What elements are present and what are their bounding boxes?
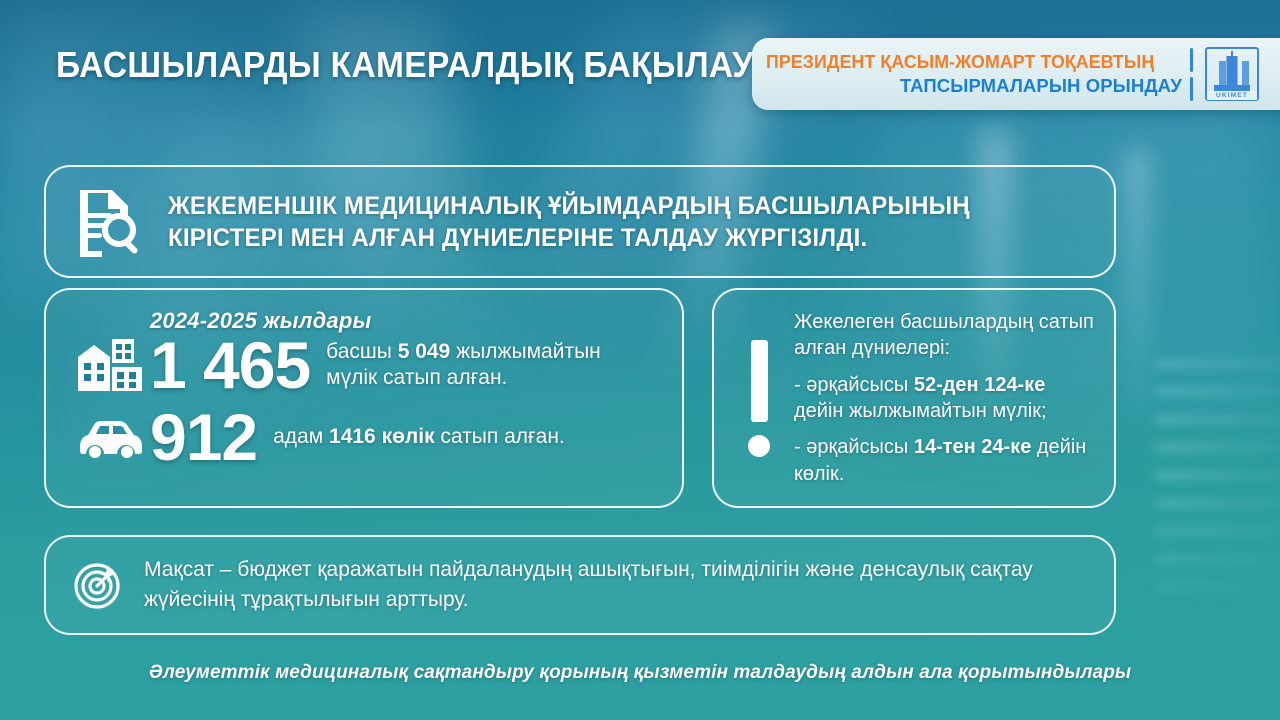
infographic-stage: БАСШЫЛАРДЫ КАМЕРАЛДЫҚ БАҚЫЛАУ ПРЕЗИДЕНТ … bbox=[0, 0, 1280, 720]
stat-row-realestate: 1 465 басшы 5 049 жылжымайтын мүлік саты… bbox=[72, 332, 656, 398]
president-tasks-badge: ПРЕЗИДЕНТ ҚАСЫМ-ЖОМАРТ ТОҚАЕВТЫҢ ТАПСЫРМ… bbox=[752, 38, 1280, 110]
badge-line-president: ПРЕЗИДЕНТ ҚАСЫМ-ЖОМАРТ ТОҚАЕВТЫҢ bbox=[766, 51, 1167, 73]
note-heading: Жекелеген басшылардың сатып алған дүниел… bbox=[794, 309, 1094, 362]
ukimet-logo-label: UKIMET bbox=[1207, 91, 1257, 100]
stat-desc-bold-1: 1416 көлік bbox=[329, 425, 435, 448]
footer-note: Әлеуметтік медициналық сақтандыру қорыны… bbox=[0, 662, 1280, 684]
stat-desc-pre-1: адам bbox=[273, 425, 329, 448]
buildings-icon bbox=[72, 337, 150, 393]
banner-line-2: КІРІСТЕРІ МЕН АЛҒАН ДҮНИЕЛЕРІНЕ ТАЛДАУ Ж… bbox=[168, 222, 970, 254]
analysis-banner-card: ЖЕКЕМЕНШІК МЕДИЦИНАЛЫҚ ҰЙЫМДАРДЫҢ БАСШЫЛ… bbox=[44, 165, 1116, 278]
car-icon bbox=[72, 415, 150, 459]
note-item-post-0: дейін жылжымайтын мүлік; bbox=[794, 400, 1047, 422]
note-item-bold-1: 14-тен 24-ке bbox=[914, 436, 1032, 458]
stat-desc-cars: адам 1416 көлік сатып алған. bbox=[273, 424, 565, 450]
goal-card: Мақсат – бюджет қаражатын пайдаланудың а… bbox=[44, 535, 1116, 635]
stat-row-cars: 912 адам 1416 көлік сатып алған. bbox=[72, 404, 656, 470]
note-item-pre-1: - әрқайсысы bbox=[794, 436, 914, 458]
goal-text: Мақсат – бюджет қаражатын пайдаланудың а… bbox=[144, 555, 1114, 615]
stat-value-realestate: 1 465 bbox=[150, 332, 310, 398]
page-title: БАСШЫЛАРДЫ КАМЕРАЛДЫҚ БАҚЫЛАУ bbox=[56, 44, 753, 86]
stat-desc-realestate: басшы 5 049 жылжымайтын мүлік сатып алға… bbox=[326, 339, 656, 392]
target-icon bbox=[74, 561, 122, 609]
note-item-pre-0: - әрқайсысы bbox=[794, 374, 914, 396]
purchases-note-card: Жекелеген басшылардың сатып алған дүниел… bbox=[712, 288, 1116, 508]
note-item-1: - әрқайсысы 14-тен 24-ке дейін көлік. bbox=[794, 434, 1094, 487]
document-search-icon bbox=[76, 187, 140, 257]
note-item-0: - әрқайсысы 52-ден 124-ке дейін жылжымай… bbox=[794, 372, 1094, 425]
banner-line-1: ЖЕКЕМЕНШІК МЕДИЦИНАЛЫҚ ҰЙЫМДАРДЫҢ БАСШЫЛ… bbox=[168, 190, 970, 222]
statistics-card: 2024-2025 жылдары 1 465 bbox=[44, 288, 684, 508]
ukimet-logo-icon: UKIMET bbox=[1205, 47, 1259, 101]
note-item-bold-0: 52-ден 124-ке bbox=[914, 374, 1046, 396]
badge-text-block: ПРЕЗИДЕНТ ҚАСЫМ-ЖОМАРТ ТОҚАЕВТЫҢ ТАПСЫРМ… bbox=[766, 51, 1184, 97]
note-text: Жекелеген басшылардың сатып алған дүниел… bbox=[794, 309, 1094, 487]
stat-value-cars: 912 bbox=[150, 404, 257, 470]
stat-desc-bold-0: 5 049 bbox=[398, 340, 451, 363]
badge-line-tasks: ТАПСЫРМАЛАРЫН ОРЫНДАУ bbox=[766, 75, 1184, 97]
banner-text: ЖЕКЕМЕНШІК МЕДИЦИНАЛЫҚ ҰЙЫМДАРДЫҢ БАСШЫЛ… bbox=[168, 190, 970, 254]
badge-divider-icon bbox=[1190, 48, 1193, 101]
exclamation-icon bbox=[736, 340, 782, 457]
stat-desc-post-1: сатып алған. bbox=[435, 425, 565, 448]
stat-desc-pre-0: басшы bbox=[326, 340, 398, 363]
